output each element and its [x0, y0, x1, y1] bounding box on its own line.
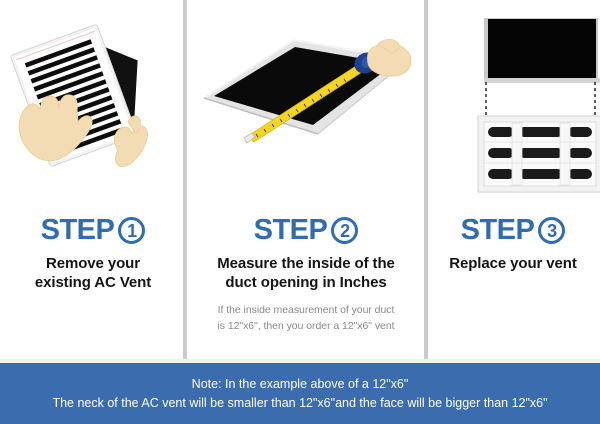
step-panel-1: STEP 1 Remove your existing AC Vent: [0, 0, 186, 360]
step-1-illustration: [0, 0, 186, 212]
step-2-description-line-1: Measure the inside of the: [186, 254, 426, 273]
step-3-word: STEP: [461, 216, 535, 245]
step-2-illustration: [186, 0, 426, 212]
step-2-number-badge: 2: [331, 217, 358, 244]
alignment-guides: [486, 82, 595, 116]
note-line-1: Note: In the example above of a 12"x6": [192, 375, 409, 394]
step-1-heading: STEP 1: [0, 216, 186, 245]
step-panel-2: STEP 2 Measure the inside of the duct op…: [186, 0, 426, 360]
step-2-caption: STEP 2 Measure the inside of the duct op…: [186, 216, 426, 334]
duct-opening-shape: [484, 18, 600, 83]
step-2-subnote-line-2: is 12"x6", then you order a 12"x6" vent: [186, 319, 426, 334]
step-2-subnote: If the inside measurement of your duct i…: [186, 303, 426, 333]
step-2-word: STEP: [254, 216, 328, 245]
vent-cover-shape: [478, 116, 600, 192]
step-3-caption: STEP 3 Replace your vent: [426, 216, 600, 273]
step-panel-3: STEP 3 Replace your vent: [426, 0, 600, 360]
hands-removing-ac-vent-icon: [0, 0, 186, 212]
step-2-heading: STEP 2: [186, 216, 426, 245]
tape-measure-on-duct-opening-icon: [186, 0, 426, 212]
step-1-caption: STEP 1 Remove your existing AC Vent: [0, 216, 186, 292]
hand-shape: [368, 39, 411, 76]
step-2-subnote-line-1: If the inside measurement of your duct: [186, 303, 426, 318]
steps-container: STEP 1 Remove your existing AC Vent: [0, 0, 600, 360]
step-1-number-badge: 1: [118, 217, 145, 244]
step-3-heading: STEP 3: [426, 216, 600, 245]
step-2-description-line-2: duct opening in Inches: [186, 273, 426, 292]
new-vent-over-duct-opening-icon: [426, 0, 600, 212]
step-3-description-line-1: Replace your vent: [426, 254, 600, 273]
step-1-description-line-1: Remove your: [0, 254, 186, 273]
step-2-description: Measure the inside of the duct opening i…: [186, 254, 426, 292]
vent-measurement-infographic: STEP 1 Remove your existing AC Vent: [0, 0, 600, 424]
panel-divider-1: [183, 0, 187, 360]
step-1-word: STEP: [41, 216, 115, 245]
step-3-illustration: [426, 0, 600, 212]
step-3-description: Replace your vent: [426, 254, 600, 273]
panel-divider-2: [424, 0, 428, 360]
step-1-description: Remove your existing AC Vent: [0, 254, 186, 292]
note-line-2: The neck of the AC vent will be smaller …: [52, 394, 547, 413]
note-bar: Note: In the example above of a 12"x6" T…: [0, 363, 600, 424]
step-3-number-badge: 3: [538, 217, 565, 244]
step-1-description-line-2: existing AC Vent: [0, 273, 186, 292]
